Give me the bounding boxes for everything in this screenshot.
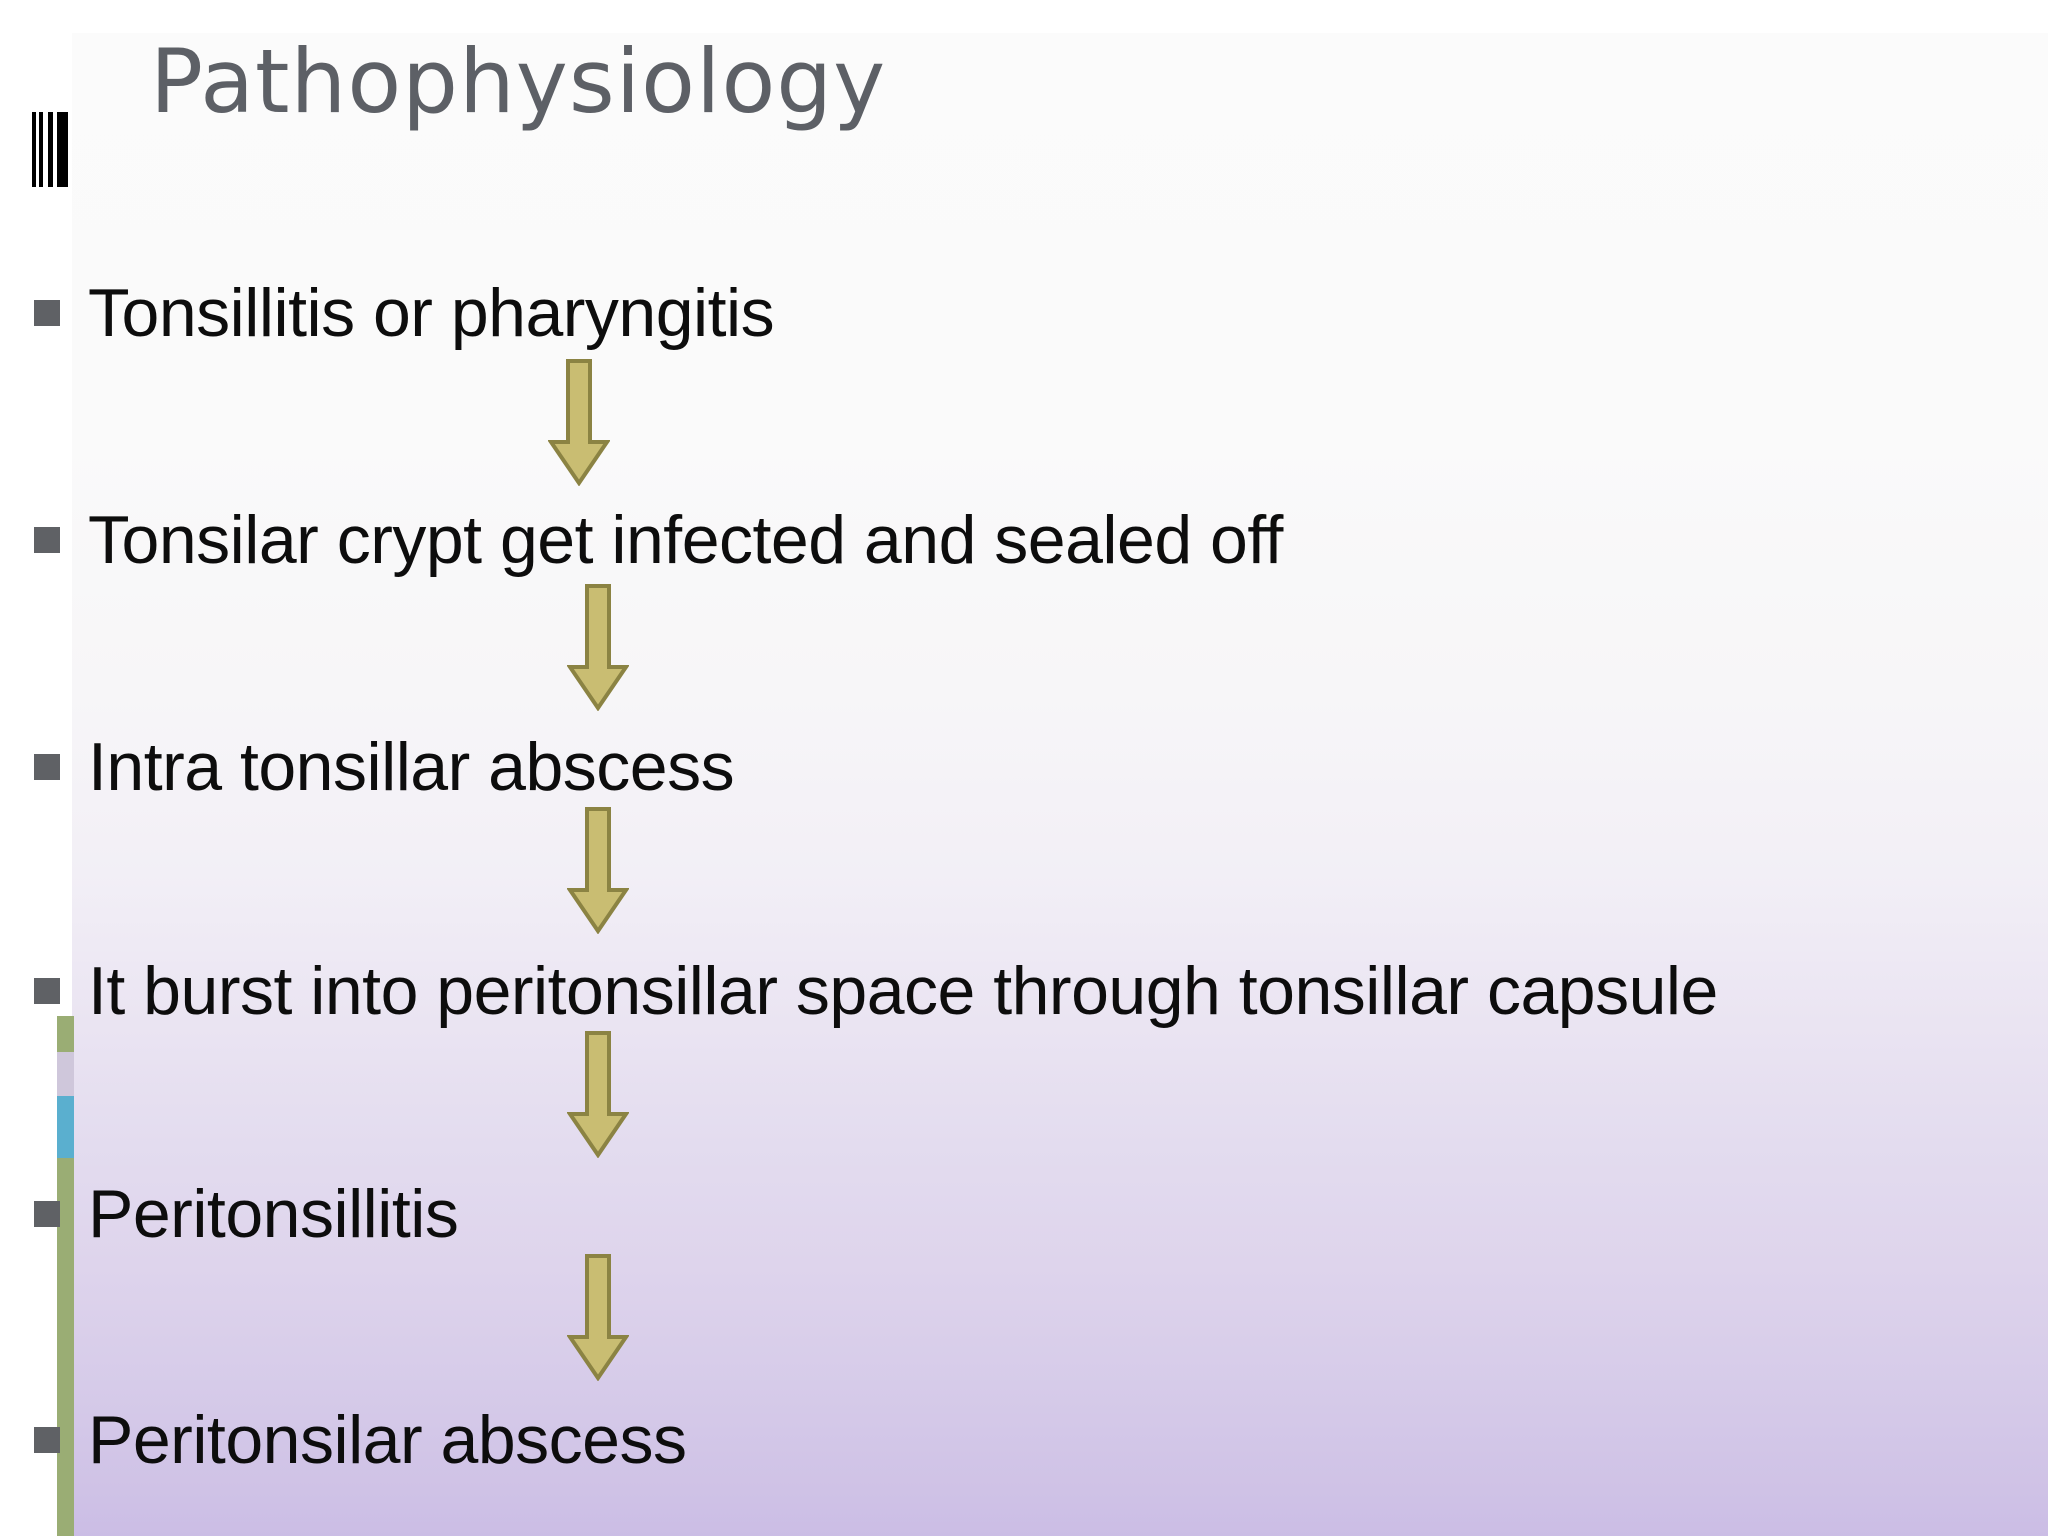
slide-canvas: Pathophysiology Tonsillitis or pharyngit… (0, 0, 2048, 1536)
down-arrow-icon (548, 358, 610, 486)
bullet-text: Peritonsillitis (88, 1180, 458, 1248)
bullet-text: It burst into peritonsillar space throug… (88, 957, 1718, 1025)
bullet-item: Tonsilar crypt get infected and sealed o… (34, 506, 2044, 574)
side-strip-segment-blue (57, 1096, 74, 1158)
bullet-square-icon (34, 1427, 60, 1453)
body-content: Tonsillitis or pharyngitisTonsilar crypt… (0, 0, 2048, 1536)
bullet-square-icon (34, 527, 60, 553)
side-strip-segment-green-top (57, 1016, 74, 1052)
side-strip-segment-lavender (57, 1052, 74, 1096)
bullet-square-icon (34, 754, 60, 780)
bullet-item: Intra tonsillar abscess (34, 733, 2044, 801)
bullet-item: It burst into peritonsillar space throug… (34, 957, 2044, 1025)
bullet-text: Peritonsilar abscess (88, 1406, 686, 1474)
bullet-text: Intra tonsillar abscess (88, 733, 734, 801)
bullet-text: Tonsillitis or pharyngitis (88, 279, 774, 347)
down-arrow-icon (567, 1030, 629, 1158)
bullet-item: Tonsillitis or pharyngitis (34, 279, 2044, 347)
bullet-text: Tonsilar crypt get infected and sealed o… (88, 506, 1283, 574)
down-arrow-icon (567, 806, 629, 934)
side-color-strip (57, 1016, 74, 1536)
bullet-item: Peritonsilar abscess (34, 1406, 2044, 1474)
bullet-square-icon (34, 1201, 60, 1227)
bullet-square-icon (34, 300, 60, 326)
bullet-item: Peritonsillitis (34, 1180, 2044, 1248)
down-arrow-icon (567, 1253, 629, 1381)
down-arrow-icon (567, 583, 629, 711)
bullet-square-icon (34, 978, 60, 1004)
